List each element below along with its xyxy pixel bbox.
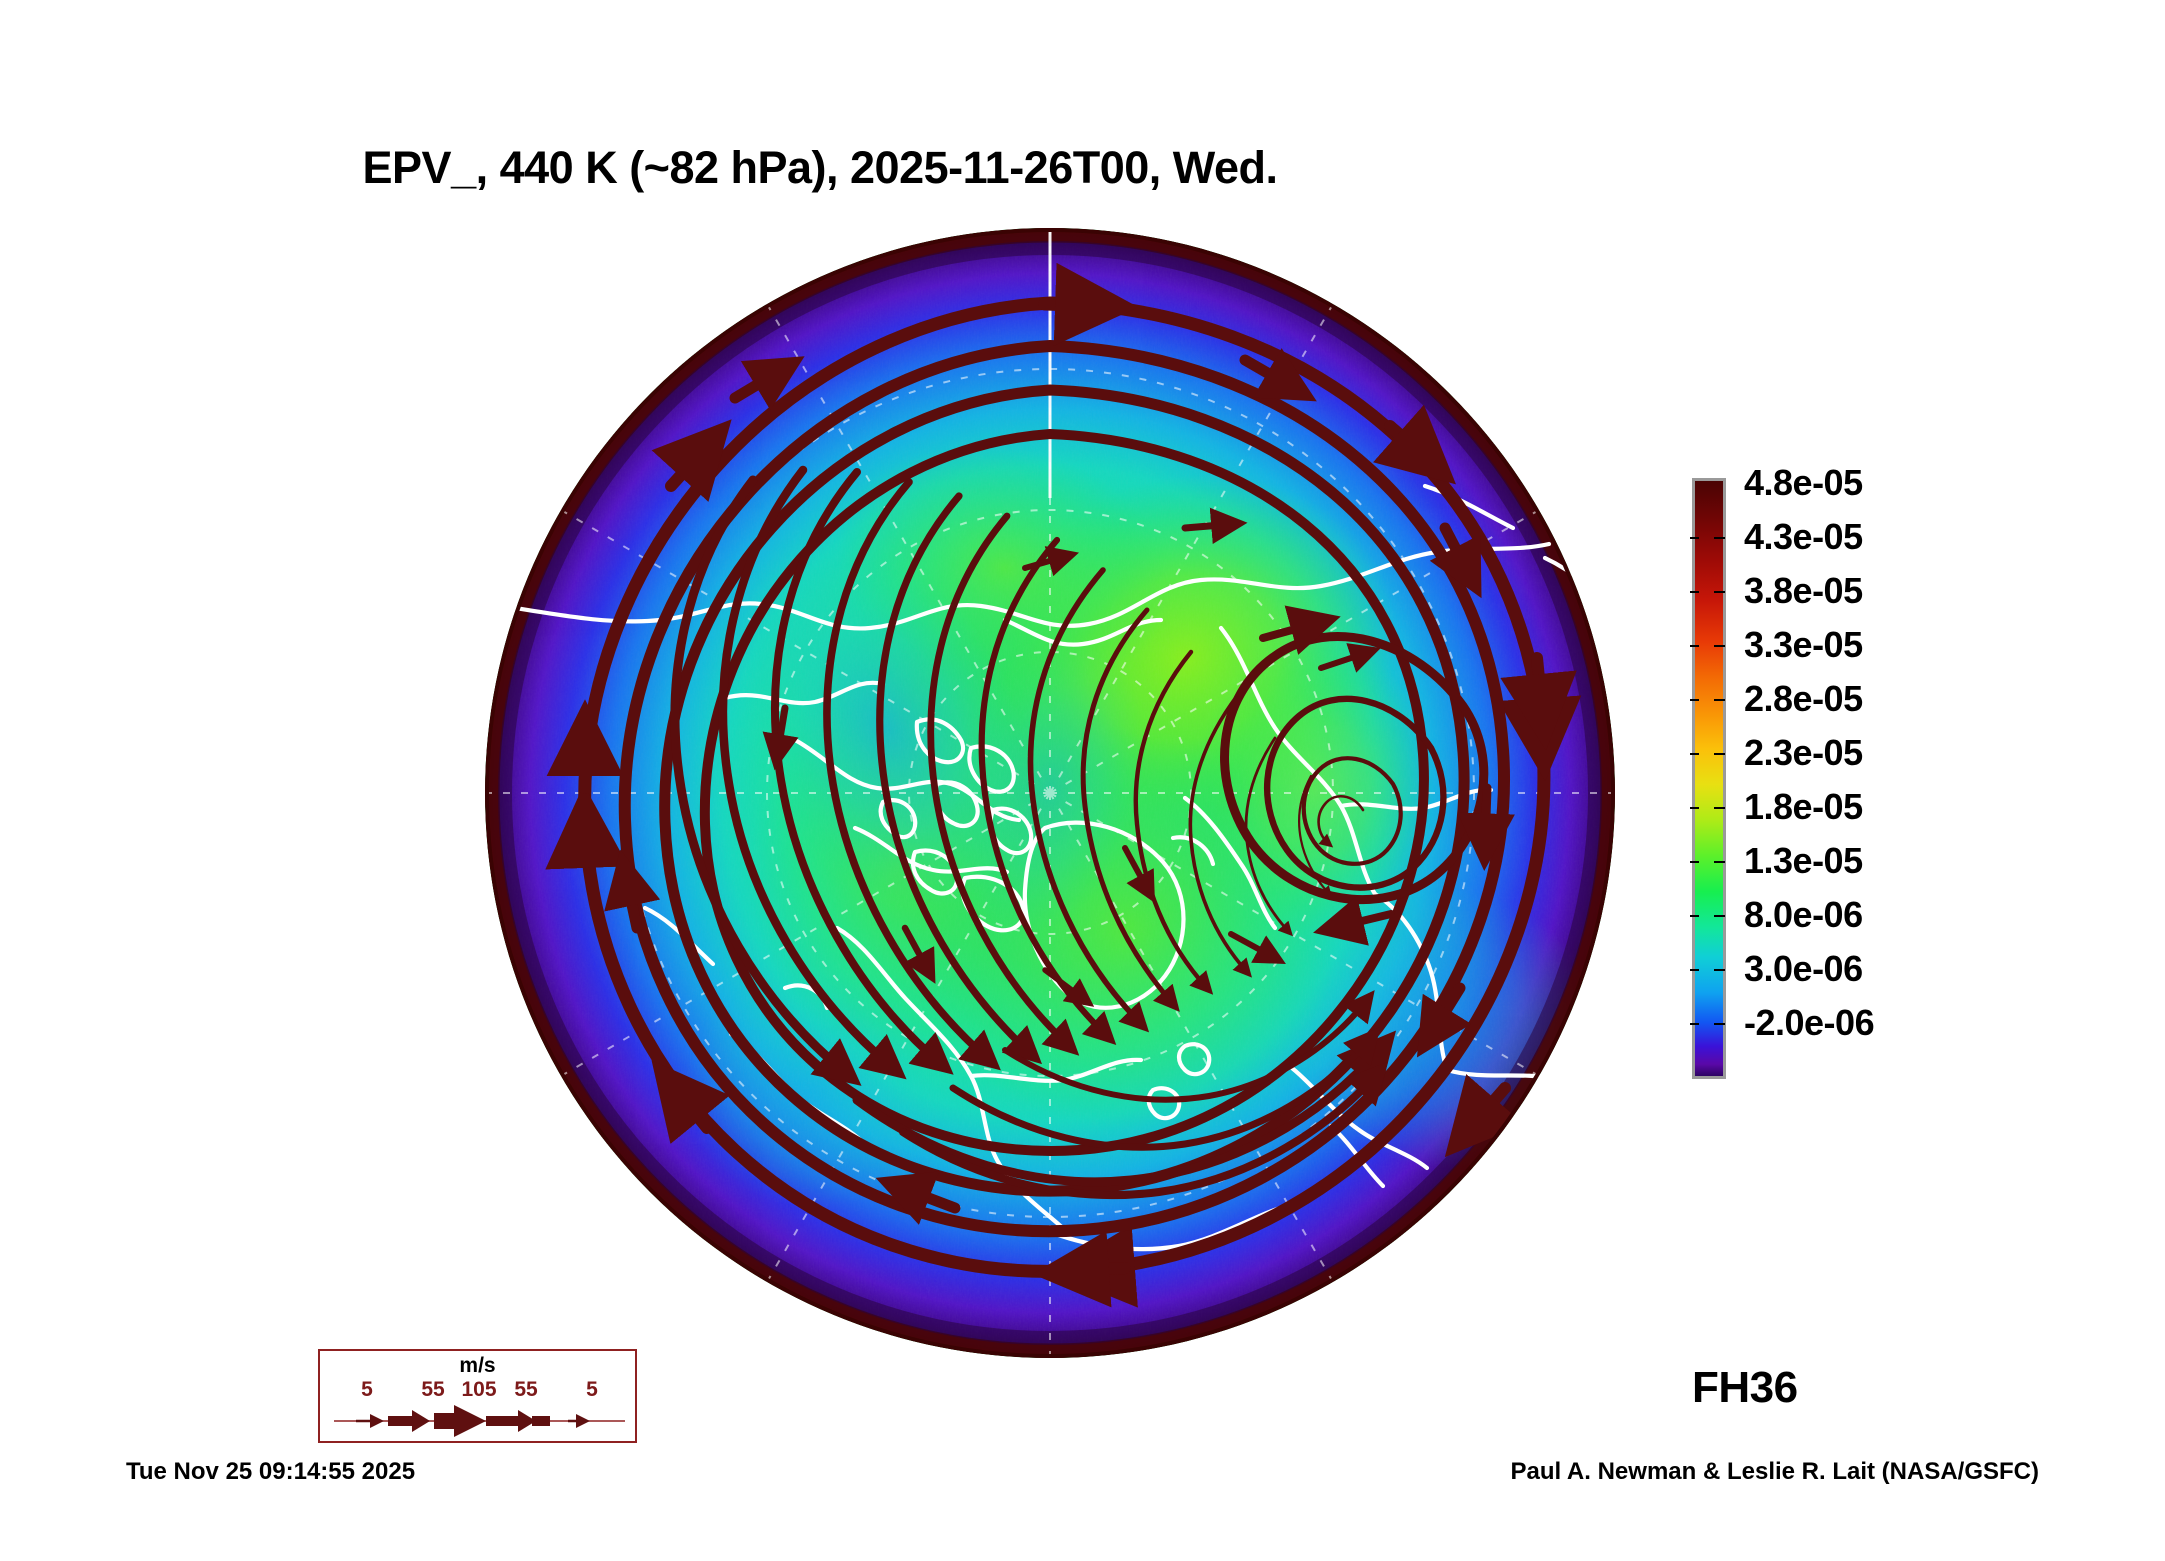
colorbar-label-9: 3.0e-06 [1744,948,1863,990]
colorbar-panel: 4.8e-05 4.3e-05 3.8e-05 3.3e-05 2.8e-05 … [1688,474,2108,1084]
wind-legend-values: 5 55 105 55 5 [320,1378,635,1404]
wind-value-1: 55 [421,1378,444,1402]
globe-contents [485,228,1615,1358]
colorbar-label-5: 2.3e-05 [1744,732,1863,774]
footer-credit: Paul A. Newman & Leslie R. Lait (NASA/GS… [1510,1458,2039,1486]
colorbar-label-10: -2.0e-06 [1744,1002,1874,1044]
forecast-hour-label: FH36 [1692,1363,1798,1413]
globe-orthographic-projection [485,228,1615,1358]
globe-svg [485,228,1615,1358]
colorbar-label-0: 4.8e-05 [1744,462,1863,504]
colorbar-label-3: 3.3e-05 [1744,624,1863,666]
page-title: EPV_, 440 K (~82 hPa), 2025-11-26T00, We… [0,142,1640,194]
wind-value-3: 55 [514,1378,537,1402]
colorbar-label-8: 8.0e-06 [1744,894,1863,936]
colorbar-label-1: 4.3e-05 [1744,516,1863,558]
colorbar-label-4: 2.8e-05 [1744,678,1863,720]
colorbar-label-2: 3.8e-05 [1744,570,1863,612]
wind-speed-legend: m/s 5 55 105 55 5 [318,1349,637,1443]
wind-value-0: 5 [361,1378,373,1402]
wind-value-2: 105 [461,1378,496,1402]
polar-map-panel [485,228,1615,1358]
colorbar-label-6: 1.8e-05 [1744,786,1863,828]
colorbar-labels: 4.8e-05 4.3e-05 3.8e-05 3.3e-05 2.8e-05 … [1744,474,2064,1077]
footer-timestamp: Tue Nov 25 09:14:55 2025 [126,1458,415,1486]
wind-legend-arrow-scale [320,1403,639,1439]
colorbar-ticks [1688,474,1732,1077]
wind-legend-unit-label: m/s [320,1354,635,1378]
colorbar-label-7: 1.3e-05 [1744,840,1863,882]
wind-value-4: 5 [586,1378,598,1402]
